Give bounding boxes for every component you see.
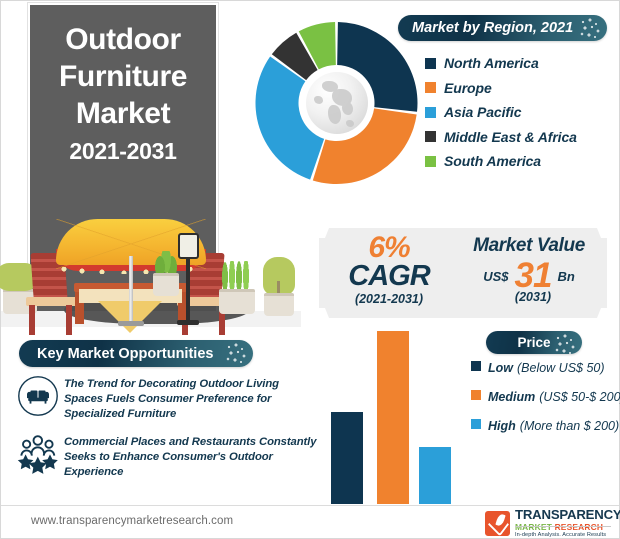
- region-legend-item: South America: [425, 149, 620, 174]
- market-value-row: US$ 31 Bn: [459, 259, 599, 293]
- price-tier-name: High: [488, 419, 516, 433]
- lamp-foot: [177, 320, 199, 325]
- footer-divider: [1, 505, 619, 506]
- planter-pot-far-right: [264, 293, 294, 316]
- logo-line-2-research: RESEARCH: [555, 522, 604, 532]
- price-bar: [377, 331, 409, 504]
- legend-swatch: [425, 107, 436, 118]
- cagr-value: 6%: [329, 234, 449, 262]
- chair-leg: [66, 305, 72, 335]
- title-line-1: Outdoor: [30, 21, 216, 58]
- legend-label: Middle East & Africa: [444, 129, 577, 145]
- legend-swatch: [425, 131, 436, 142]
- legend-swatch: [471, 361, 481, 371]
- region-legend-item: North America: [425, 51, 620, 76]
- region-legend-item: Asia Pacific: [425, 100, 620, 125]
- region-donut-chart: [254, 19, 419, 187]
- tmr-logo-mark-icon: [485, 511, 510, 536]
- market-by-region-banner: Market by Region, 2021: [398, 15, 607, 41]
- logo-line-2-market: MARKET: [515, 522, 552, 532]
- logo-line-2: MARKET RESEARCH: [515, 523, 620, 531]
- cagr-word: CAGR: [329, 262, 449, 291]
- price-label: Price: [517, 335, 550, 350]
- title-line-2: Furniture: [30, 58, 216, 95]
- sparkle-icon: [554, 334, 576, 356]
- market-value-unit: Bn: [557, 269, 574, 284]
- price-banner: Price: [486, 331, 582, 354]
- planter-pot-right: [219, 289, 255, 314]
- cagr-years: (2021-2031): [329, 291, 449, 308]
- opportunity-item: The Trend for Decorating Outdoor Living …: [17, 375, 317, 423]
- grass-plant-icon: [220, 261, 254, 291]
- cagr-block: 6% CAGR (2021-2031): [329, 234, 449, 308]
- chair-leg: [29, 305, 35, 335]
- market-value-block: Market Value US$ 31 Bn (2031): [459, 234, 599, 304]
- price-legend: Low(Below US$ 50)Medium(US$ 50-$ 200)Hig…: [471, 361, 620, 448]
- price-legend-item: High(More than $ 200): [471, 419, 620, 448]
- legend-swatch: [471, 419, 481, 429]
- market-value-year: (2031): [467, 290, 599, 304]
- legend-label: South America: [444, 153, 541, 169]
- title-text-block: Outdoor Furniture Market 2021-2031: [30, 21, 216, 168]
- opportunities-list: The Trend for Decorating Outdoor Living …: [17, 375, 317, 490]
- website-url[interactable]: www.transparencymarketresearch.com: [31, 515, 233, 527]
- tmr-logo: TRANSPARENCY MARKET RESEARCH In-depth An…: [485, 509, 611, 537]
- region-legend-item: Europe: [425, 76, 620, 101]
- cagr-market-value-plaque: 6% CAGR (2021-2031) Market Value US$ 31 …: [319, 228, 607, 318]
- price-tier-name: Low: [488, 361, 513, 375]
- topiary-bush-icon: [263, 257, 295, 295]
- opportunity-text: Commercial Places and Restaurants Consta…: [64, 433, 317, 481]
- price-bar: [419, 447, 451, 504]
- legend-label: Europe: [444, 80, 492, 96]
- logo-divider: [515, 526, 611, 527]
- legend-label: North America: [444, 55, 539, 71]
- title-line-3: Market: [30, 95, 216, 132]
- logo-tagline: In-depth Analysis. Accurate Results: [515, 533, 620, 539]
- legend-label: Asia Pacific: [444, 104, 521, 120]
- sparkle-icon: [225, 343, 247, 365]
- title-years: 2021-2031: [30, 134, 216, 168]
- lamp-head: [178, 233, 199, 259]
- sofa-icon: [17, 375, 64, 422]
- price-bar-chart: [331, 331, 451, 504]
- region-legend-item: Middle East & Africa: [425, 125, 620, 150]
- outdoor-patio-illustration: [1, 201, 301, 326]
- logo-line-1: TRANSPARENCY: [515, 508, 620, 521]
- succulent-plant-icon: [155, 251, 177, 275]
- globe-landmass: [306, 72, 368, 134]
- infographic-root: Outdoor Furniture Market 2021-2031: [0, 0, 620, 539]
- opportunity-text: The Trend for Decorating Outdoor Living …: [64, 375, 317, 423]
- umbrella-pole: [129, 256, 133, 324]
- tmr-logo-text: TRANSPARENCY MARKET RESEARCH In-depth An…: [515, 508, 620, 538]
- market-by-region-label: Market by Region, 2021: [412, 20, 573, 36]
- people-stars-icon: [17, 433, 64, 480]
- market-value-number: 31: [515, 259, 552, 293]
- planter-pot-center: [153, 273, 179, 296]
- price-tier-range: (US$ 50-$ 200): [539, 390, 620, 404]
- legend-swatch: [425, 156, 436, 167]
- key-market-opportunities-label: Key Market Opportunities: [37, 346, 213, 362]
- price-legend-item: Low(Below US$ 50): [471, 361, 620, 390]
- price-tier-range: (Below US$ 50): [517, 361, 605, 375]
- price-legend-item: Medium(US$ 50-$ 200): [471, 390, 620, 419]
- price-tier-range: (More than $ 200): [520, 419, 619, 433]
- price-bar: [331, 412, 363, 504]
- sparkle-icon: [579, 18, 601, 40]
- key-market-opportunities-banner: Key Market Opportunities: [19, 340, 253, 367]
- umbrella-base: [118, 321, 144, 326]
- opportunity-item: Commercial Places and Restaurants Consta…: [17, 433, 317, 481]
- price-tier-name: Medium: [488, 390, 535, 404]
- market-value-currency: US$: [483, 269, 508, 284]
- market-value-title: Market Value: [459, 234, 599, 258]
- legend-swatch: [471, 390, 481, 400]
- legend-swatch: [425, 82, 436, 93]
- globe-icon: [306, 72, 368, 134]
- legend-swatch: [425, 58, 436, 69]
- region-legend: North AmericaEuropeAsia PacificMiddle Ea…: [425, 51, 620, 174]
